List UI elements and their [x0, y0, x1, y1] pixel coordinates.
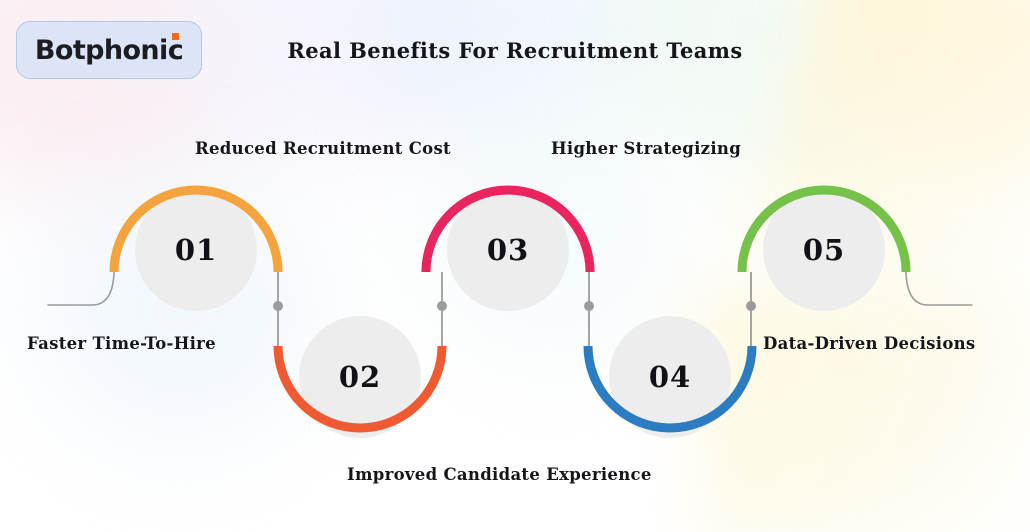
connector-tail-left [48, 272, 114, 305]
junction-dot-1 [273, 301, 283, 311]
junction-dot-3 [584, 301, 594, 311]
step-label-03: Reduced Recruitment Cost [195, 139, 451, 158]
step-label-02: Improved Candidate Experience [347, 465, 652, 484]
step-label-04: Higher Strategizing [551, 139, 741, 158]
infographic-canvas: Botphonic Real Benefits For Recruitment … [0, 0, 1030, 532]
junction-dot-2 [437, 301, 447, 311]
step-label-01: Faster Time-To-Hire [27, 334, 216, 353]
step-number-03: 03 [446, 233, 570, 267]
junction-dot-4 [746, 301, 756, 311]
step-label-05: Data-Driven Decisions [763, 334, 976, 353]
step-number-01: 01 [134, 233, 258, 267]
step-number-04: 04 [608, 360, 732, 394]
step-number-05: 05 [762, 233, 886, 267]
step-number-02: 02 [298, 360, 422, 394]
connector-tail-right [906, 272, 972, 305]
